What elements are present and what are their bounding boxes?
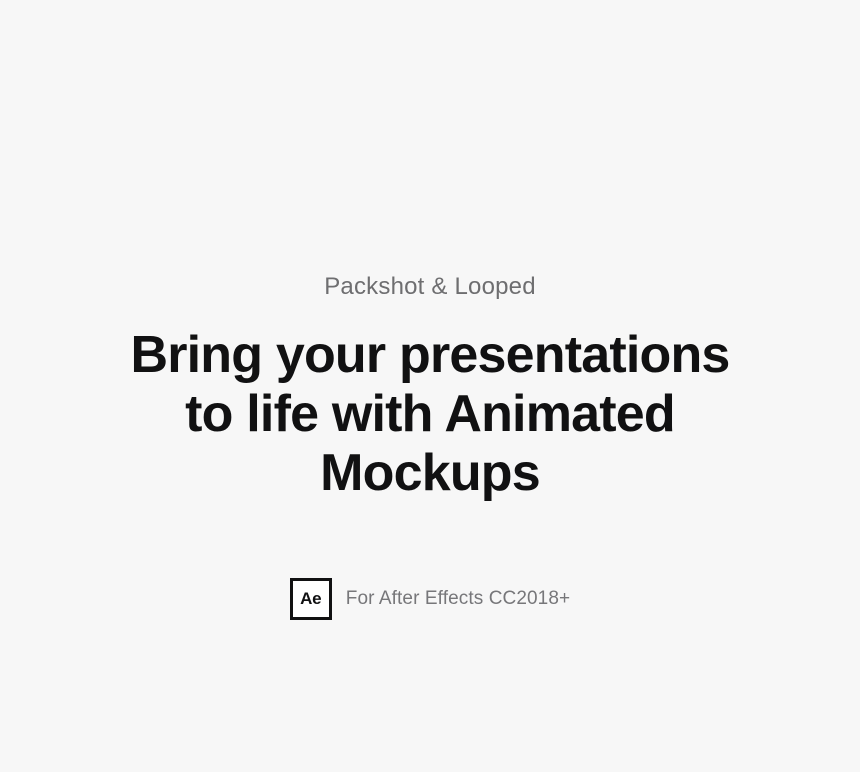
headline-line-1: Bring your presentations	[130, 326, 729, 385]
after-effects-ae-icon-label: Ae	[300, 590, 321, 607]
platform-badge: Ae For After Effects CC2018+	[290, 578, 570, 620]
headline-line-3: Mockups	[130, 444, 729, 503]
headline-line-2: to life with Animated	[130, 385, 729, 444]
after-effects-ae-icon: Ae	[290, 578, 332, 620]
platform-requirement-label: For After Effects CC2018+	[346, 587, 570, 611]
eyebrow-text: Packshot & Looped	[324, 272, 536, 302]
promo-slide: Packshot & Looped Bring your presentatio…	[0, 0, 860, 772]
page-title: Bring your presentations to life with An…	[130, 326, 729, 503]
hero-block: Packshot & Looped Bring your presentatio…	[0, 272, 860, 620]
